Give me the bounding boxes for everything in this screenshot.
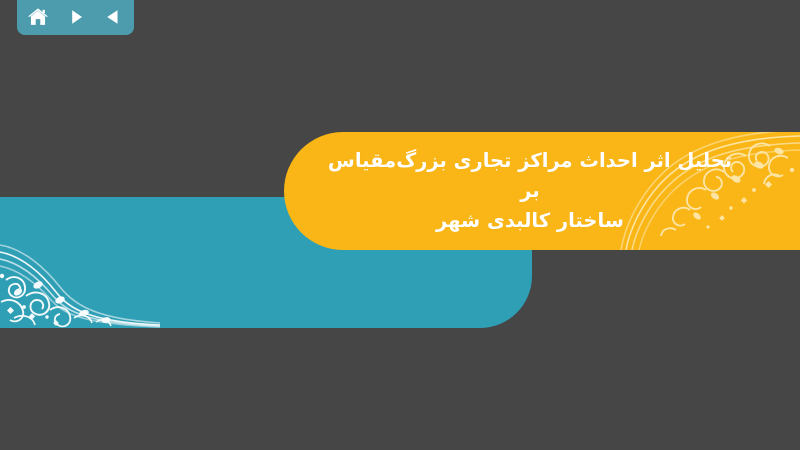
title-panel: تحلیل اثر احداث مراکز تجاری بزرگ‌مقیاس ب… [284,132,800,250]
triangle-left-icon [103,7,123,27]
page-title: تحلیل اثر احداث مراکز تجاری بزرگ‌مقیاس ب… [315,146,745,237]
back-button[interactable] [103,6,125,28]
title-line-1: تحلیل اثر احداث مراکز تجاری بزرگ‌مقیاس ب… [328,149,732,202]
home-button[interactable] [27,6,49,28]
arabesque-corner-ornament [0,218,160,328]
slideshow-navigation-bar [17,0,134,35]
presentation-slide: تحلیل اثر احداث مراکز تجاری بزرگ‌مقیاس ب… [0,0,800,450]
forward-button[interactable] [65,6,87,28]
title-line-2: ساختار کالبدی شهر [436,209,624,232]
house-icon [27,6,49,28]
triangle-right-icon [66,7,86,27]
